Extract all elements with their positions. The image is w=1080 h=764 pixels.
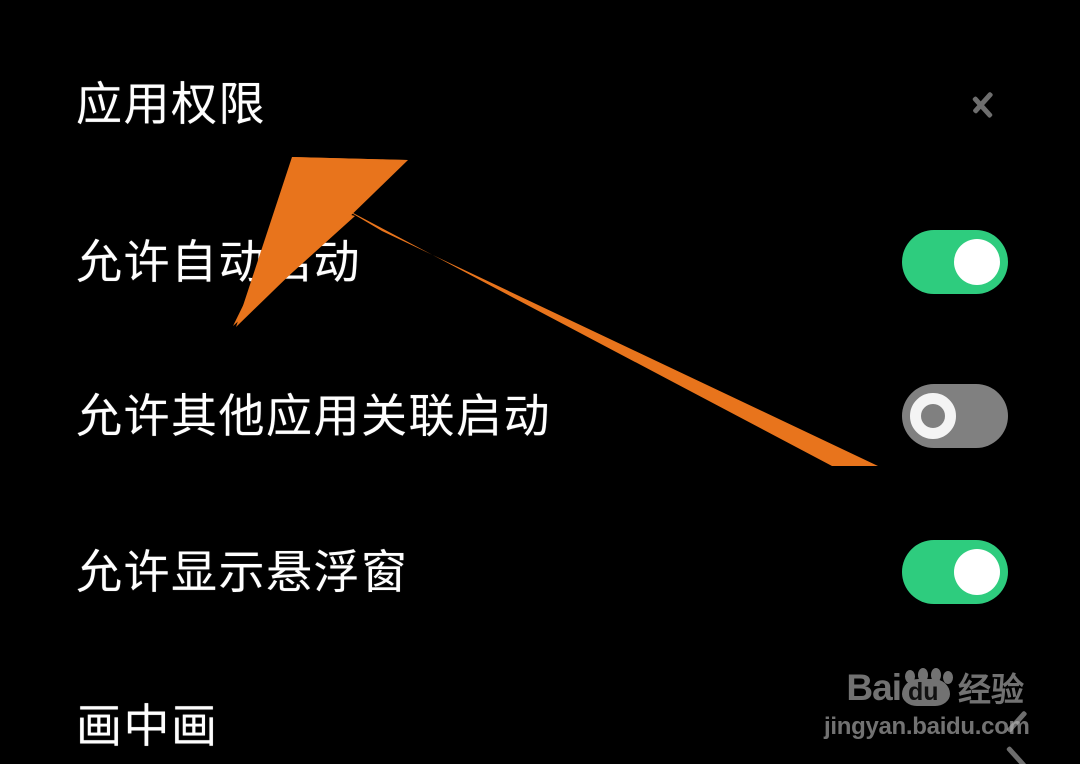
settings-list: 应用权限 允许自动启动 允许其他应用关联启动 允许显示悬浮窗 画中画: [0, 0, 1080, 764]
baidu-jingyan-label: 经验: [958, 673, 1024, 706]
chevron-right-icon[interactable]: [968, 80, 1002, 128]
toggle-allow-floating-window[interactable]: [902, 540, 1008, 604]
settings-row-allow-autostart[interactable]: 允许自动启动: [0, 208, 1080, 316]
toggle-knob: [954, 549, 1000, 595]
settings-row-label: 应用权限: [76, 81, 266, 127]
settings-row-allow-floating-window[interactable]: 允许显示悬浮窗: [0, 518, 1080, 626]
baidu-logo: Bai du 经验: [824, 668, 1024, 706]
settings-row-label: 画中画: [76, 703, 219, 749]
settings-row-app-permissions[interactable]: 应用权限: [0, 52, 1080, 156]
baidu-paw-text: du: [908, 680, 939, 705]
toggle-allow-associated-start[interactable]: [902, 384, 1008, 448]
toggle-knob: [954, 239, 1000, 285]
settings-row-allow-associated-start[interactable]: 允许其他应用关联启动: [0, 362, 1080, 470]
toggle-knob: [910, 393, 956, 439]
settings-row-label: 允许显示悬浮窗: [76, 549, 409, 595]
settings-row-label: 允许其他应用关联启动: [76, 393, 551, 439]
baidu-wordmark: Bai: [846, 669, 901, 706]
baidu-paw-icon: du: [899, 668, 953, 706]
settings-row-label: 允许自动启动: [76, 239, 361, 285]
toggle-allow-autostart[interactable]: [902, 230, 1008, 294]
baidu-watermark: Bai du 经验 jingyan.baidu.com: [824, 668, 1024, 739]
baidu-url: jingyan.baidu.com: [824, 715, 1024, 739]
